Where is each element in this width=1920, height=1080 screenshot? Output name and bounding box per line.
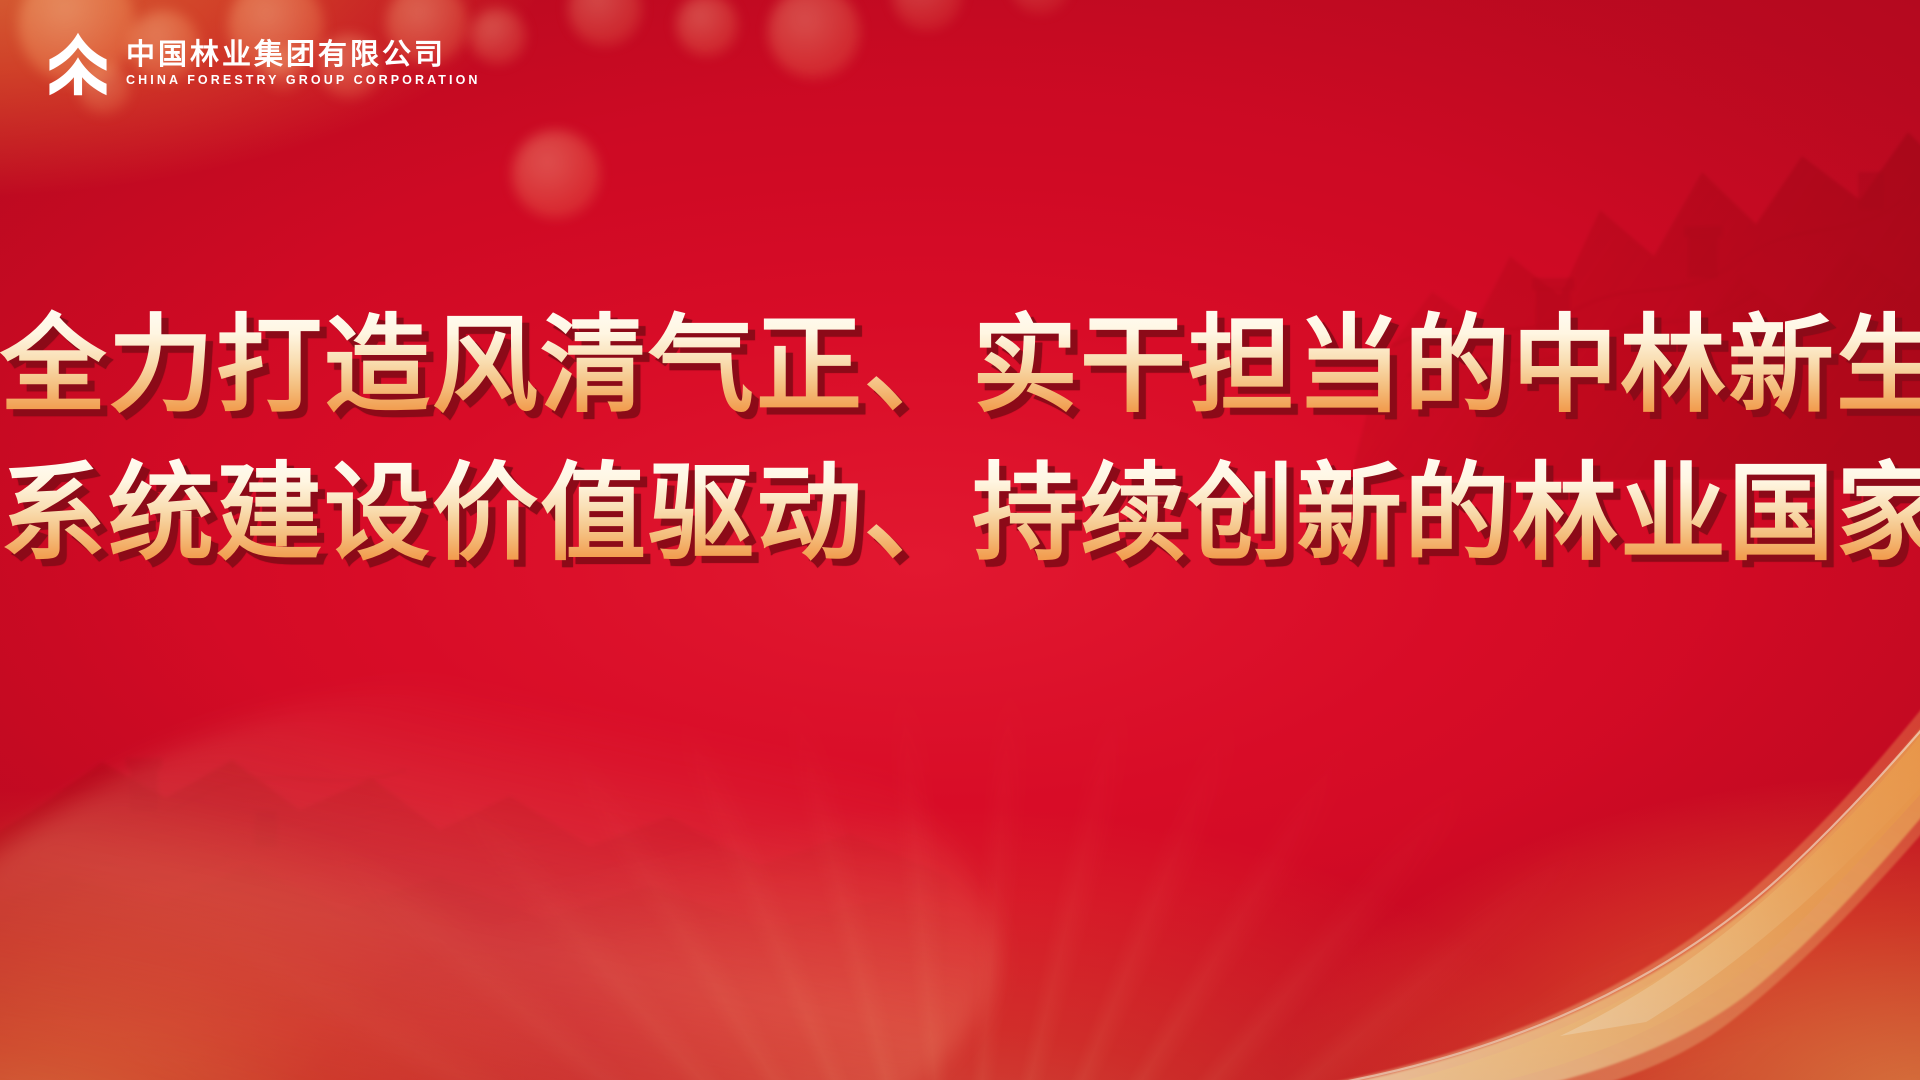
brand-name-en: CHINA FORESTRY GROUP CORPORATION [126,74,481,87]
brand-logo-lockup: 中国林业集团有限公司 CHINA FORESTRY GROUP CORPORAT… [44,30,481,98]
brand-logo-text: 中国林业集团有限公司 CHINA FORESTRY GROUP CORPORAT… [126,41,481,87]
headline-line-2: 系统建设价值驱动、持续创新的林业国家队 [0,440,1920,588]
headline-block: 全力打造风清气正、实干担当的中林新生态 系统建设价值驱动、持续创新的林业国家队 [0,292,1920,588]
poster-canvas: 中国林业集团有限公司 CHINA FORESTRY GROUP CORPORAT… [0,0,1920,1080]
bokeh-circle [512,130,600,218]
headline-line-1: 全力打造风清气正、实干担当的中林新生态 [0,292,1920,440]
cfg-mountain-pagoda-logo-icon [44,30,112,98]
brand-name-cn: 中国林业集团有限公司 [126,41,481,70]
headline-line-2-text: 系统建设价值驱动、持续创新的林业国家队 [0,452,1920,575]
headline-line-1-text: 全力打造风清气正、实干担当的中林新生态 [0,304,1920,427]
